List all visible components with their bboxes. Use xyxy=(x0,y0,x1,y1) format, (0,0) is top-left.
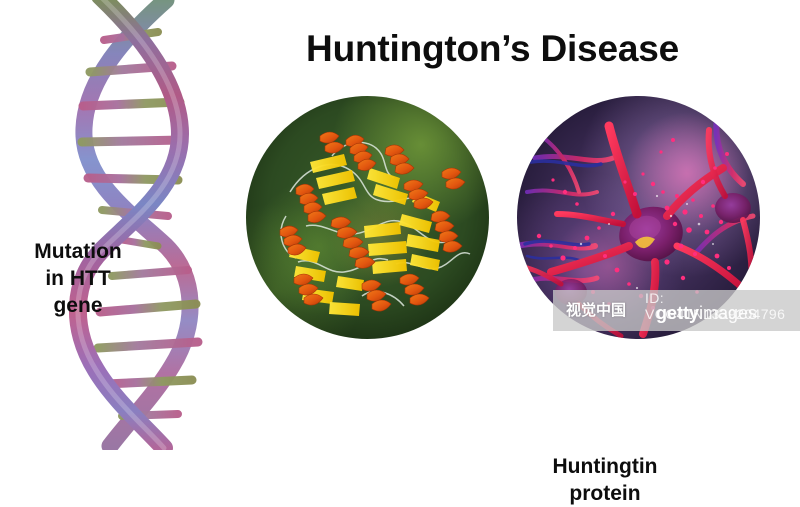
getty-logo-bold: getty xyxy=(656,303,699,323)
protein-caption-line-1: Huntingtin xyxy=(480,453,730,480)
protein-caption: Huntingtin protein xyxy=(480,453,730,507)
dna-panel: Mutation in HTT gene xyxy=(0,0,230,450)
protein-micrograph-circle xyxy=(246,96,489,339)
gettyimages-logo: gettyimages xyxy=(656,303,757,324)
watermark-chinese-logo: 视觉中国 xyxy=(566,299,626,320)
dna-panel-label: Mutation in HTT gene xyxy=(8,238,148,319)
huntingtin-protein-panel: Huntingtin protein xyxy=(240,96,490,416)
getty-logo-light: images xyxy=(699,303,757,323)
dna-label-line-1: Mutation xyxy=(8,238,148,265)
dna-double-helix-illustration xyxy=(48,0,218,450)
protein-caption-line-2: protein xyxy=(480,480,730,507)
protein-ribbon-illustration xyxy=(246,96,489,339)
neuronal-degradation-panel: Neuronal degradation xyxy=(505,96,765,416)
dna-label-line-3: gene xyxy=(8,292,148,319)
dna-label-line-2: in HTT xyxy=(8,265,148,292)
